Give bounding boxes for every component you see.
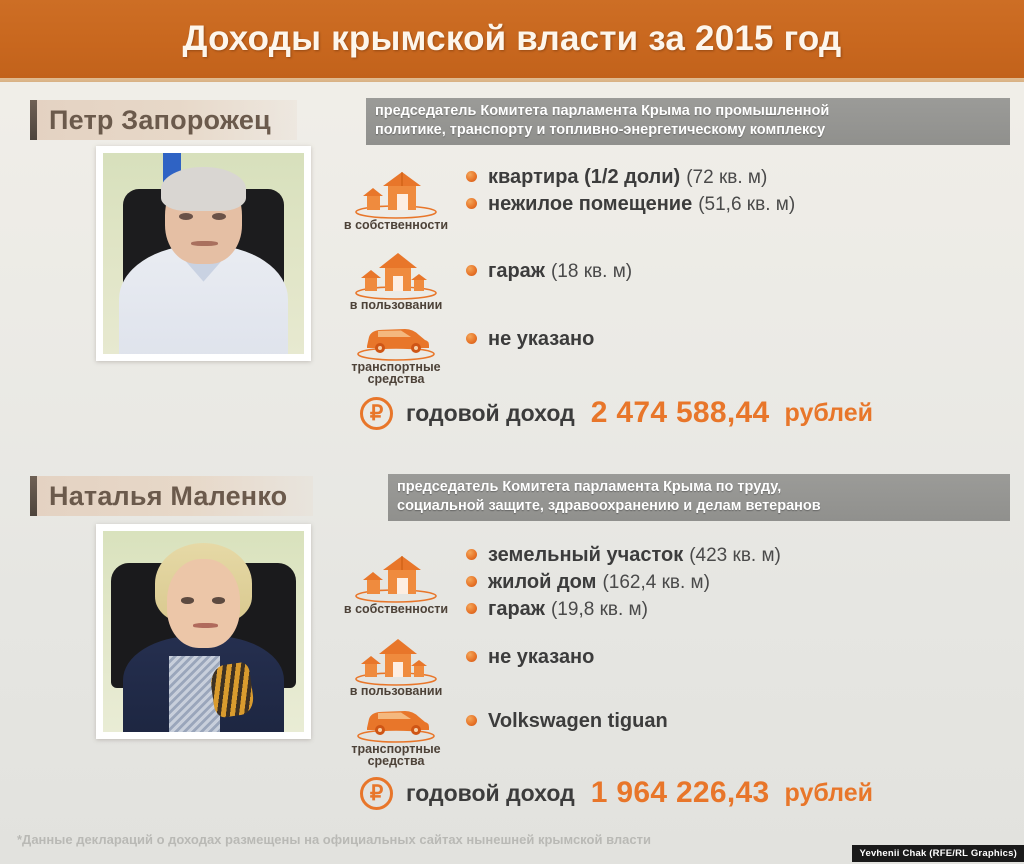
list-item: гараж (19,8 кв. м) [466,596,1024,623]
income-currency: рублей [785,399,874,428]
bullet-icon [466,576,477,587]
bullet-icon [466,171,477,182]
income-amount: 1 964 226,43 [591,776,770,810]
item-label: не указано [488,644,594,671]
photo-eye-left [181,597,194,603]
person-position-line-1: председатель Комитета парламента Крыма п… [397,478,1001,497]
car-icon [353,318,439,362]
item-label: жилой дом [488,569,596,596]
category-items: не указано [466,326,1024,353]
item-detail: (18 кв. м) [551,258,632,285]
income-label: годовой доход [406,400,575,427]
person-photo [103,153,304,354]
list-item: жилой дом (162,4 кв. м) [466,569,1024,596]
bullet-icon [466,333,477,344]
category-label: в собственности [326,602,466,616]
house-ownership-icon [353,164,439,220]
header-divider [0,78,1024,82]
list-item: не указано [466,644,1024,671]
ruble-icon: ₽ [360,397,393,430]
bullet-icon [466,265,477,276]
list-item: земельный участок (423 кв. м) [466,542,1024,569]
item-detail: (19,8 кв. м) [551,596,648,623]
category-icon-wrap: в пользовании [326,634,466,698]
category-icon-wrap: транспортные средства [326,318,466,386]
bullet-icon [466,715,477,726]
person-position-line-1: председатель Комитета парламента Крыма п… [375,102,1001,121]
page-title: Доходы крымской власти за 2015 год [183,19,842,59]
item-label: земельный участок [488,542,683,569]
item-detail: (72 кв. м) [686,164,767,191]
item-label: квартира (1/2 доли) [488,164,680,191]
car-icon [353,700,439,744]
category-items: гараж (18 кв. м) [466,258,1024,285]
person-position-plate: председатель Комитета парламента Крыма п… [388,474,1010,521]
category-label: в пользовании [326,298,466,312]
list-item: нежилое помещение (51,6 кв. м) [466,191,1024,218]
income-amount: 2 474 588,44 [591,396,770,430]
income-label: годовой доход [406,780,575,807]
item-detail: (423 кв. м) [689,542,781,569]
person-photo-frame [96,146,311,361]
category-icon-wrap: в пользовании [326,248,466,312]
infographic-root: Доходы крымской власти за 2015 год Петр … [0,0,1024,864]
item-detail: (51,6 кв. м) [698,191,795,218]
list-item: квартира (1/2 доли) (72 кв. м) [466,164,1024,191]
category-label: в пользовании [326,684,466,698]
photo-head [167,559,239,647]
category-items: земельный участок (423 кв. м) жилой дом … [466,542,1024,623]
ruble-icon: ₽ [360,777,393,810]
category-label: в собственности [326,218,466,232]
category-icon-wrap: в собственности [326,548,466,616]
category-icon-wrap: в собственности [326,164,466,232]
house-usage-icon [353,634,439,686]
footnote: *Данные деклараций о доходах размещены н… [17,832,651,847]
person-name-plate: Наталья Маленко [30,476,313,516]
item-label: гараж [488,596,545,623]
person-photo-frame [96,524,311,739]
photo-hair [161,167,245,211]
category-icon-wrap: транспортные средства [326,700,466,768]
person-position-plate: председатель Комитета парламента Крыма п… [366,98,1010,145]
item-label: гараж [488,258,545,285]
bullet-icon [466,549,477,560]
house-ownership-icon [353,548,439,604]
income-currency: рублей [785,779,874,808]
category-items: Volkswagen tiguan [466,708,1024,735]
person-name-plate: Петр Запорожец [30,100,297,140]
person-name: Петр Запорожец [49,105,271,136]
credit-badge: Yevhenii Chak (RFE/RL Graphics) [852,845,1024,862]
category-label-line-2: средства [326,372,466,386]
name-plate-accent-bar [30,100,37,140]
header-band: Доходы крымской власти за 2015 год [0,0,1024,78]
list-item: гараж (18 кв. м) [466,258,1024,285]
person-position-line-2: социальной защите, здравоохранению и дел… [397,497,1001,516]
person-position-line-2: политике, транспорту и топливно-энергети… [375,121,1001,140]
photo-eye-right [212,597,225,603]
st-george-ribbon-icon [208,661,255,718]
item-detail: (162,4 кв. м) [602,569,710,596]
bullet-icon [466,603,477,614]
bullet-icon [466,651,477,662]
item-label: не указано [488,326,594,353]
bullet-icon [466,198,477,209]
photo-mouth [193,623,217,628]
name-plate-accent-bar [30,476,37,516]
list-item: Volkswagen tiguan [466,708,1024,735]
income-row: ₽ годовой доход 2 474 588,44 рублей [360,396,873,430]
person-name: Наталья Маленко [49,481,287,512]
person-photo [103,531,304,732]
category-items: не указано [466,644,1024,671]
item-label: нежилое помещение [488,191,692,218]
item-label: Volkswagen tiguan [488,708,668,735]
house-usage-icon [353,248,439,300]
income-row: ₽ годовой доход 1 964 226,43 рублей [360,776,873,810]
category-items: квартира (1/2 доли) (72 кв. м) нежилое п… [466,164,1024,218]
category-label-line-2: средства [326,754,466,768]
list-item: не указано [466,326,1024,353]
